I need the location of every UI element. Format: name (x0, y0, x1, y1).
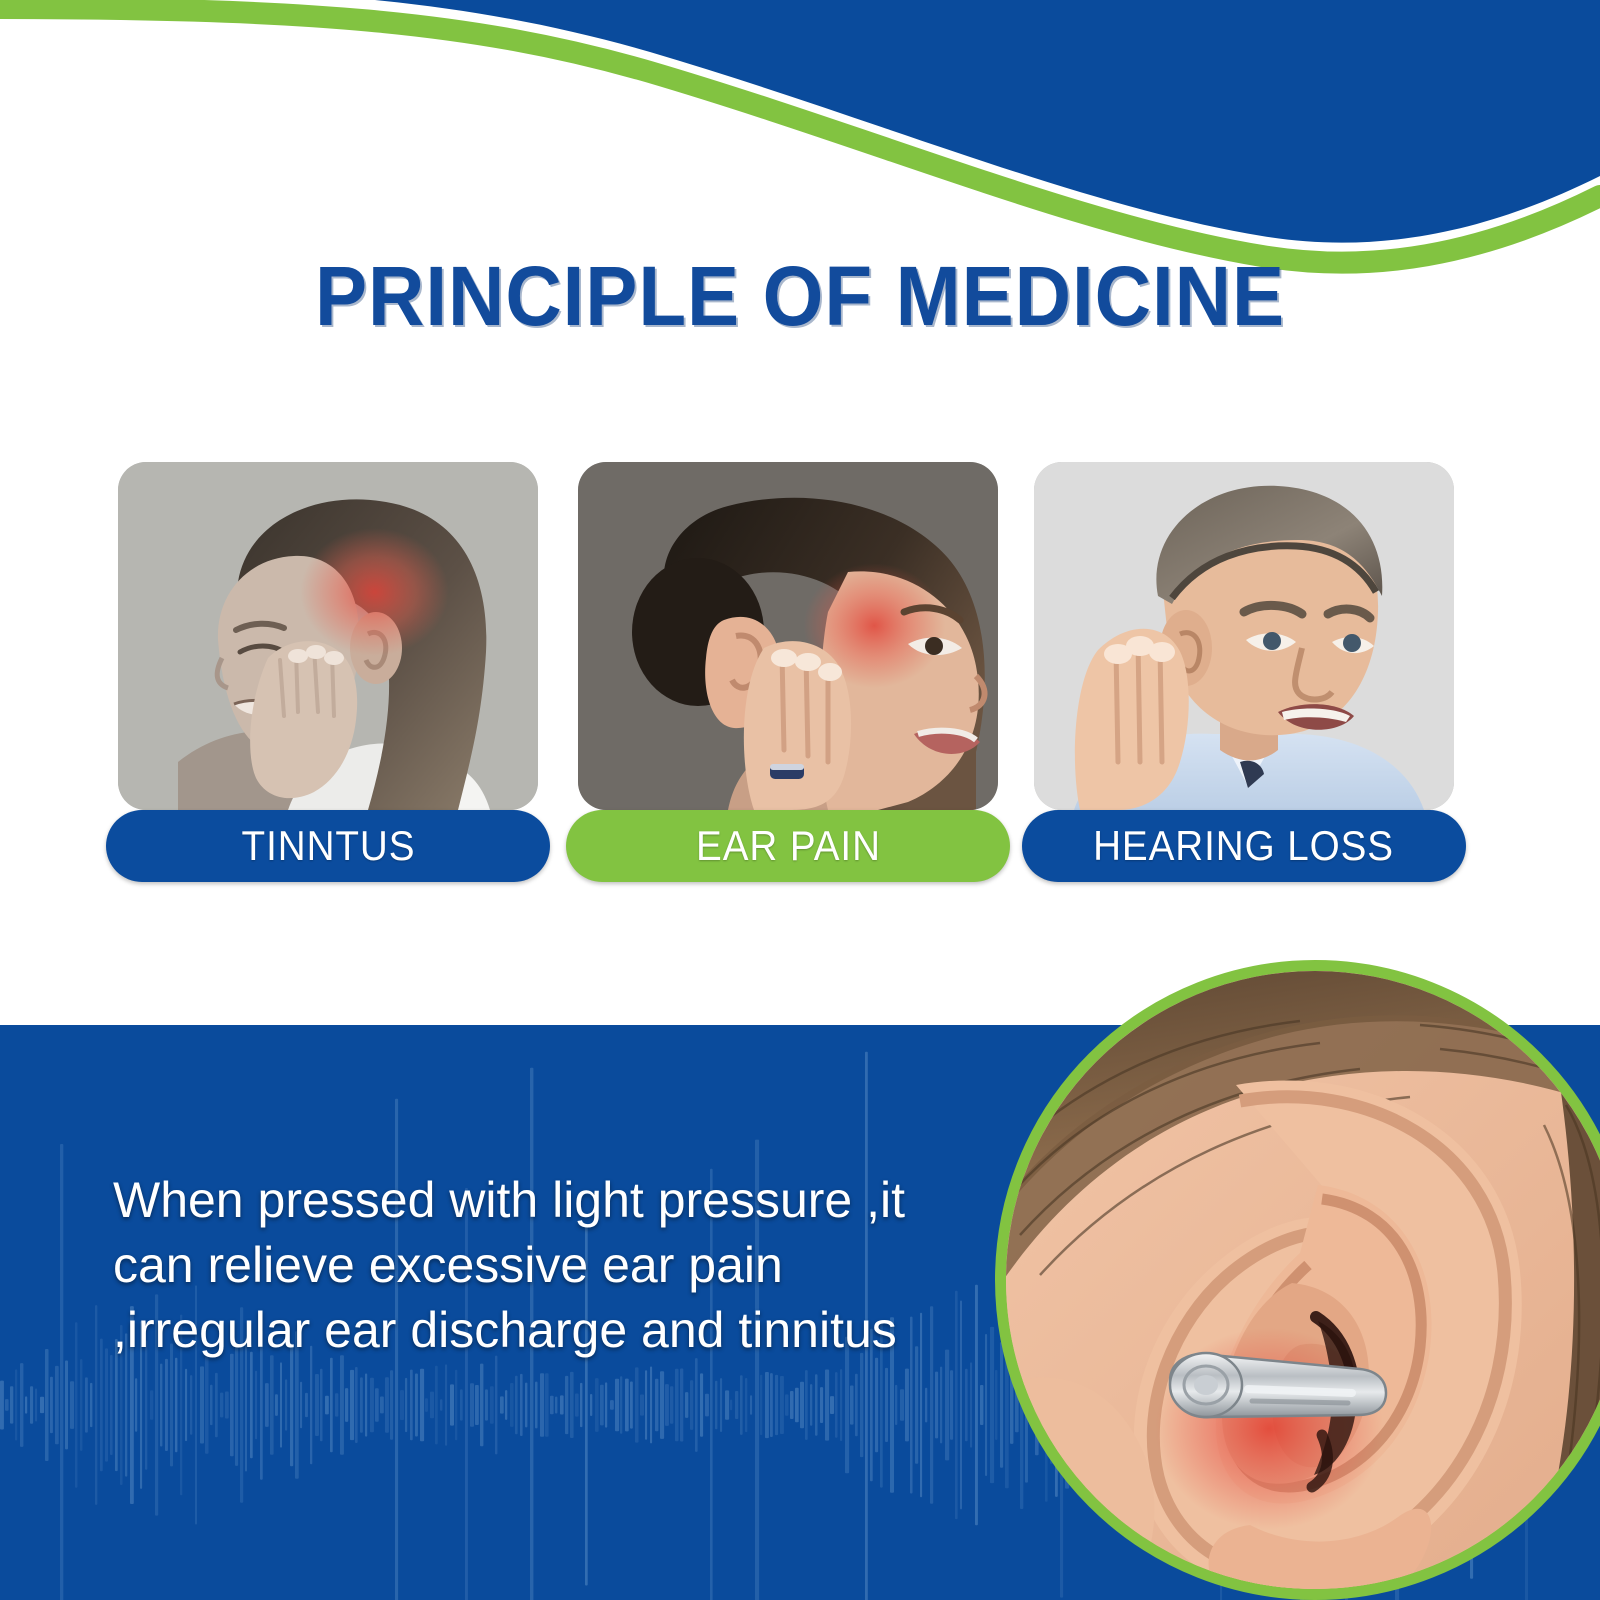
symptom-photo-ear-pain (578, 462, 998, 810)
symptom-label-text: EAR PAIN (696, 822, 881, 870)
description-text: When pressed with light pressure ,it can… (113, 1168, 933, 1363)
page-title: PRINCIPLE OF MEDICINE (56, 248, 1544, 345)
symptom-label-text: HEARING LOSS (1094, 822, 1395, 870)
symptom-card-list: TINNTUS (118, 462, 1482, 882)
symptom-photo-hearing-loss (1034, 462, 1454, 810)
symptom-card-tinnitus[interactable]: TINNTUS (118, 462, 538, 882)
symptom-card-ear-pain[interactable]: EAR PAIN (578, 462, 998, 882)
ear-closeup-photo (1000, 965, 1600, 1600)
symptom-photo-tinnitus (118, 462, 538, 810)
infographic-page: PRINCIPLE OF MEDICINE (0, 0, 1600, 1600)
ear-closeup-circle (995, 960, 1600, 1600)
symptom-label-pill-tinnitus[interactable]: TINNTUS (106, 810, 550, 882)
symptom-label-pill-ear-pain[interactable]: EAR PAIN (566, 810, 1010, 882)
symptom-card-hearing-loss[interactable]: HEARING LOSS (1034, 462, 1454, 882)
symptom-label-pill-hearing-loss[interactable]: HEARING LOSS (1022, 810, 1466, 882)
symptom-label-text: TINNTUS (241, 822, 415, 870)
